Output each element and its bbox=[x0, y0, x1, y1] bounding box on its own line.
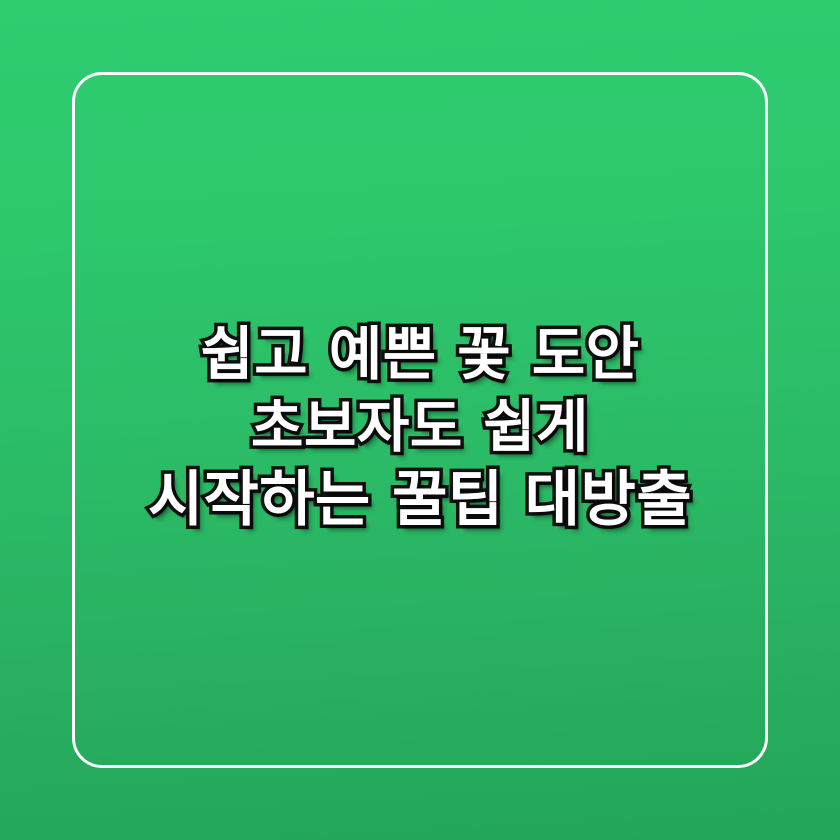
headline-line-3: 시작하는 꿀팁 대방출 bbox=[40, 464, 800, 537]
headline-line-1: 쉽고 예쁜 꽃 도안 bbox=[40, 318, 800, 391]
headline-block: 쉽고 예쁜 꽃 도안 초보자도 쉽게 시작하는 꿀팁 대방출 bbox=[0, 318, 840, 537]
promo-card: 쉽고 예쁜 꽃 도안 초보자도 쉽게 시작하는 꿀팁 대방출 bbox=[0, 0, 840, 840]
headline-line-2: 초보자도 쉽게 bbox=[40, 391, 800, 464]
